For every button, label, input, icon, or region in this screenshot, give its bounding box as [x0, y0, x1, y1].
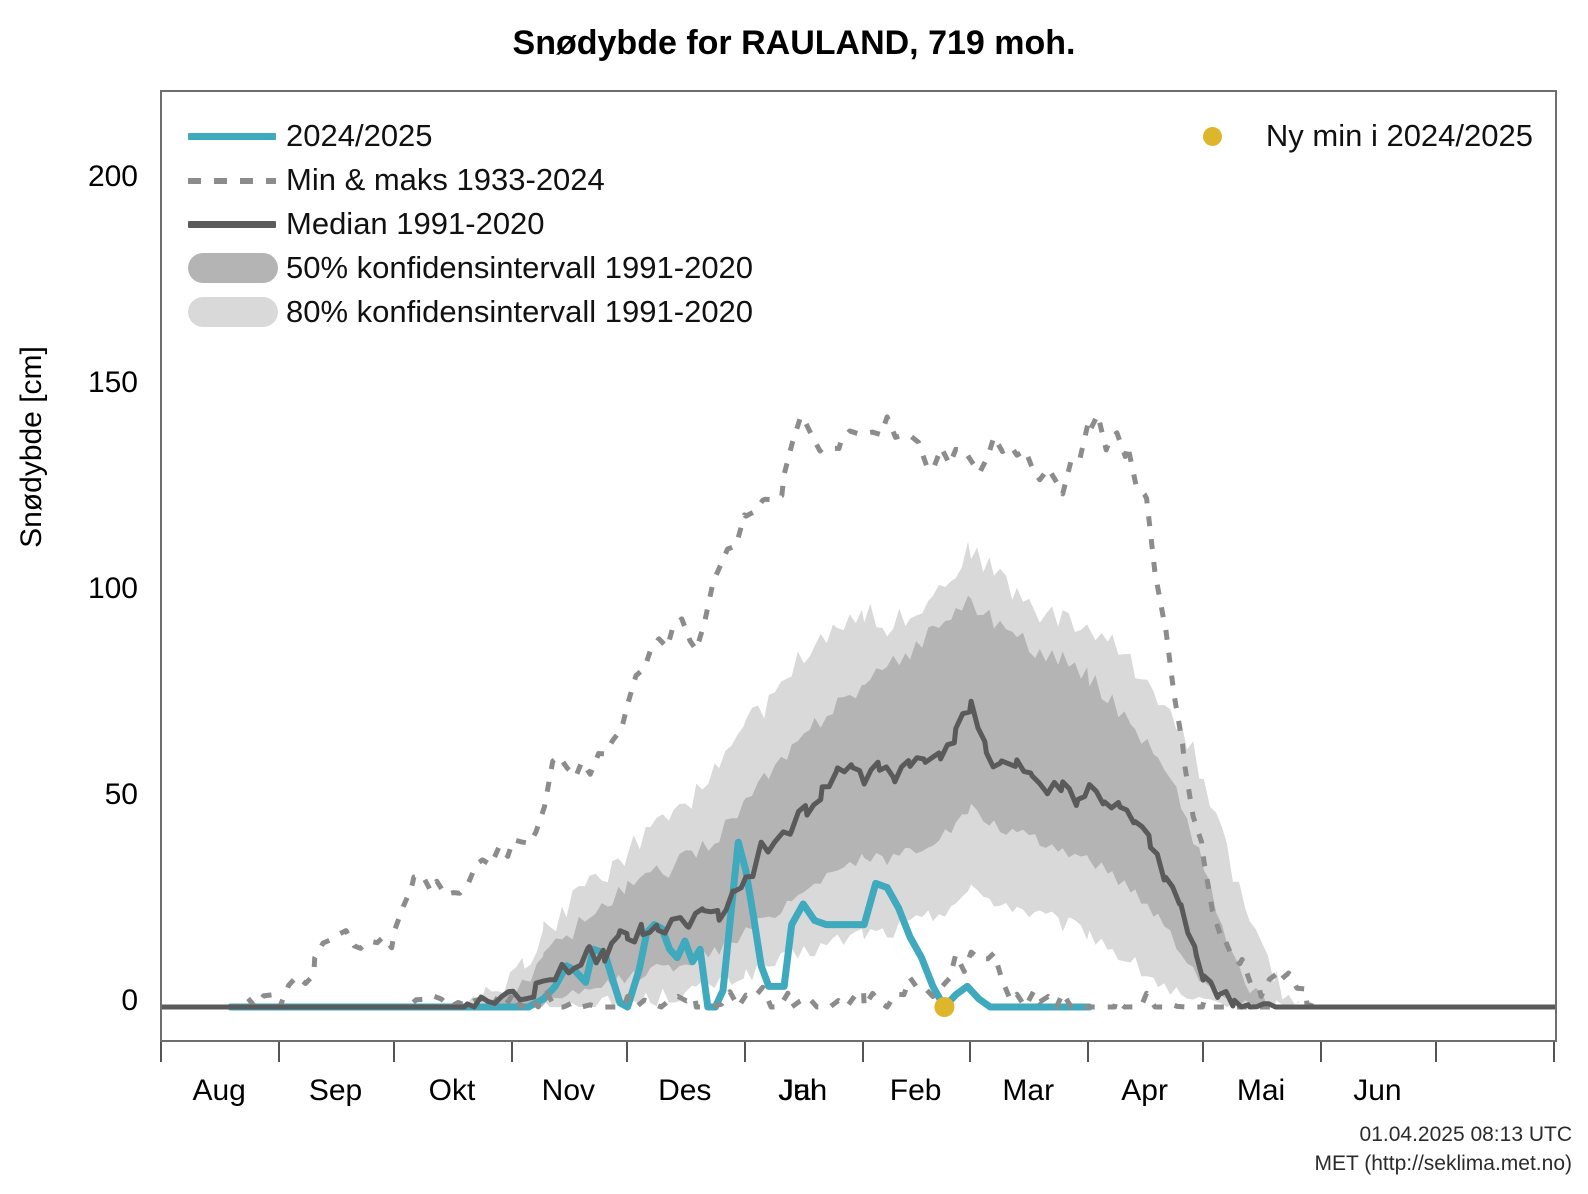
series-line: [162, 952, 1555, 1007]
x-tick-mark: [393, 1042, 395, 1062]
legend-key-icon: [184, 290, 280, 334]
legend-series: 2024/2025Min & maks 1933-2024Median 1991…: [184, 114, 904, 334]
legend-item: 2024/2025: [184, 114, 904, 158]
line-solid-cyan-icon: [188, 133, 276, 140]
plot-area: 2024/2025Min & maks 1933-2024Median 1991…: [160, 90, 1557, 1042]
band-80-icon: [188, 297, 278, 327]
y-tick-label: 0: [18, 986, 138, 1016]
legend-key-icon: [184, 158, 280, 202]
x-tick-mark: [160, 1042, 162, 1062]
legend-key-icon: [184, 114, 280, 158]
legend-item-label: 2024/2025: [280, 118, 433, 154]
legend-item-label: 80% konfidensintervall 1991-2020: [280, 294, 753, 330]
legend-item-label: Min & maks 1933-2024: [280, 162, 605, 198]
new-min-dot-icon: [1203, 127, 1222, 146]
page-title: Snødybde for RAULAND, 719 moh.: [0, 24, 1588, 63]
x-tick-mark: [744, 1042, 746, 1062]
legend-item: Min & maks 1933-2024: [184, 158, 904, 202]
x-tick-mark: [511, 1042, 513, 1062]
x-tick-mark: [626, 1042, 628, 1062]
footer-attribution: 01.04.2025 08:13 UTC MET (http://seklima…: [1314, 1121, 1572, 1178]
x-tick-mark: [278, 1042, 280, 1062]
legend-new-min-label: Ny min i 2024/2025: [1260, 118, 1533, 154]
x-tick-mark: [1320, 1042, 1322, 1062]
x-tick-mark: [1087, 1042, 1089, 1062]
legend-key-icon: [184, 246, 280, 290]
footer-timestamp: 01.04.2025 08:13 UTC: [1314, 1121, 1572, 1149]
band-50-icon: [188, 253, 278, 283]
x-tick-label: Jul: [717, 1074, 877, 1108]
legend-item: Median 1991-2020: [184, 202, 904, 246]
legend-item: 80% konfidensintervall 1991-2020: [184, 290, 904, 334]
y-axis-label: Snødybde [cm]: [15, 277, 49, 617]
legend-key-icon: [184, 202, 280, 246]
x-tick-label: Aug: [139, 1074, 299, 1108]
footer-source: MET (http://seklima.met.no): [1314, 1150, 1572, 1178]
snow-depth-chart-figure: Snødybde for RAULAND, 719 moh. Snødybde …: [0, 0, 1588, 1194]
y-tick-label: 150: [18, 368, 138, 398]
y-tick-label: 200: [18, 162, 138, 192]
new-min-marker: [934, 997, 954, 1017]
y-tick-label: 100: [18, 574, 138, 604]
legend-item: 50% konfidensintervall 1991-2020: [184, 246, 904, 290]
y-tick-label: 50: [18, 780, 138, 810]
x-tick-mark: [1435, 1042, 1437, 1062]
x-tick-mark: [862, 1042, 864, 1062]
legend-item-label: Median 1991-2020: [280, 206, 545, 242]
x-tick-mark: [1553, 1042, 1555, 1062]
line-dashed-gray-icon: [188, 178, 276, 184]
legend-new-min: Ny min i 2024/2025: [1203, 114, 1533, 158]
legend-item-label: 50% konfidensintervall 1991-2020: [280, 250, 753, 286]
x-tick-label: Jun: [1297, 1074, 1457, 1108]
x-tick-mark: [1202, 1042, 1204, 1062]
line-solid-gray-icon: [188, 221, 276, 228]
x-tick-mark: [969, 1042, 971, 1062]
